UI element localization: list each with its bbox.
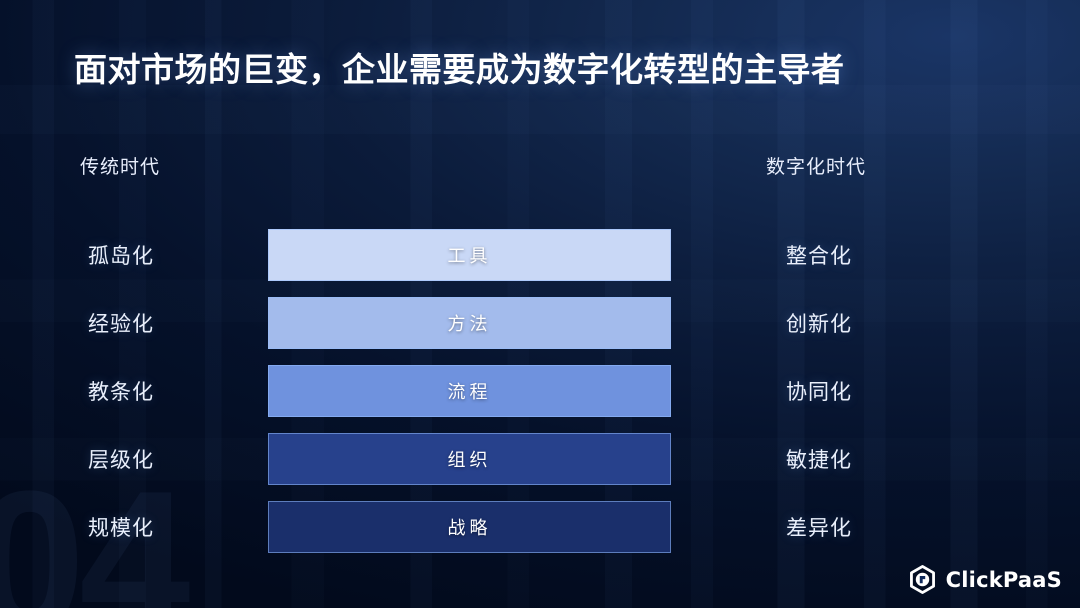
row-label-right: 协同化	[786, 365, 852, 417]
row-label-right: 敏捷化	[786, 433, 852, 485]
center-bar-method[interactable]: 方法	[268, 297, 671, 349]
brand-logo: ClickPaaS	[908, 565, 1062, 594]
table-row: 孤岛化 工具 整合化	[0, 229, 1080, 297]
row-label-right: 差异化	[786, 501, 852, 553]
row-label-left: 层级化	[88, 433, 154, 485]
table-row: 层级化 组织 敏捷化	[0, 433, 1080, 501]
center-bar-strategy[interactable]: 战略	[268, 501, 671, 553]
row-label-right: 创新化	[786, 297, 852, 349]
comparison-matrix: 孤岛化 工具 整合化 经验化 方法 创新化 教条化 流程 协同化 层级化 组织 …	[0, 229, 1080, 569]
brand-logo-text: ClickPaaS	[946, 568, 1062, 592]
center-bar-process[interactable]: 流程	[268, 365, 671, 417]
hexagon-logo-icon	[908, 565, 937, 594]
table-row: 规模化 战略 差异化	[0, 501, 1080, 569]
column-header-left: 传统时代	[80, 152, 160, 179]
row-label-left: 孤岛化	[88, 229, 154, 281]
page-title: 面对市场的巨变，企业需要成为数字化转型的主导者	[74, 43, 845, 91]
row-label-left: 教条化	[88, 365, 154, 417]
table-row: 经验化 方法 创新化	[0, 297, 1080, 365]
row-label-left: 经验化	[88, 297, 154, 349]
center-bar-tool[interactable]: 工具	[268, 229, 671, 281]
column-header-right: 数字化时代	[766, 152, 866, 179]
slide-canvas: 04 面对市场的巨变，企业需要成为数字化转型的主导者 传统时代 数字化时代 孤岛…	[0, 0, 1080, 608]
center-bar-organization[interactable]: 组织	[268, 433, 671, 485]
row-label-right: 整合化	[786, 229, 852, 281]
row-label-left: 规模化	[88, 501, 154, 553]
table-row: 教条化 流程 协同化	[0, 365, 1080, 433]
